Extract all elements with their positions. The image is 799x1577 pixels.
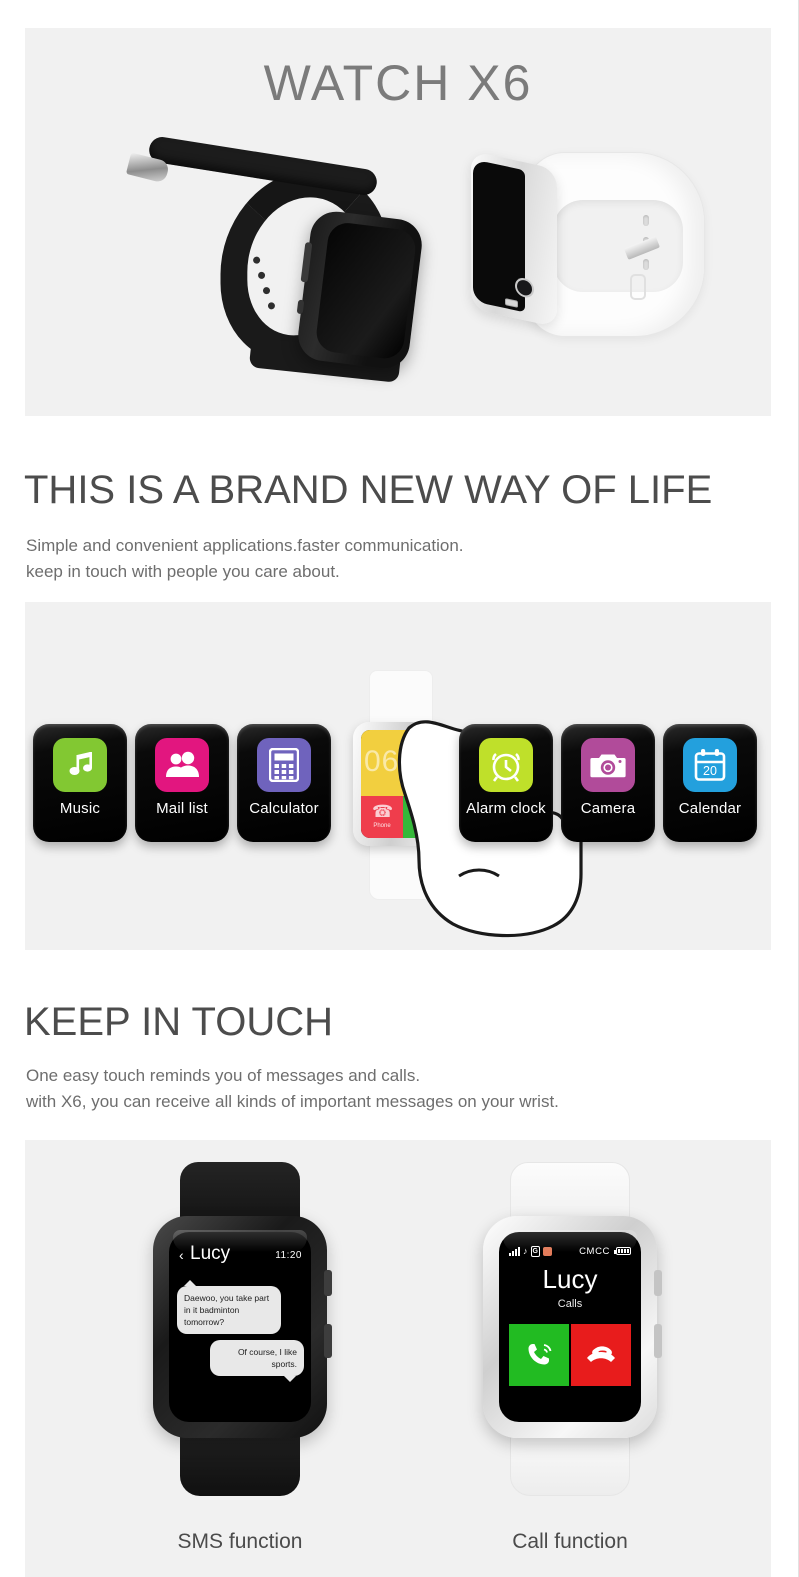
sms-bubble-outgoing: Of course, I like sports.	[210, 1340, 304, 1376]
call-smartwatch: ♪ G CMCC Lucy Calls	[455, 1162, 685, 1492]
call-watch-side-button-1	[654, 1270, 662, 1296]
app-label: Alarm clock	[466, 800, 546, 817]
app-tile-mail-list[interactable]: Mail list	[135, 724, 229, 842]
black-watch-case	[295, 209, 424, 372]
center-watch-strap-top	[369, 670, 433, 730]
app-tile-camera[interactable]: Camera	[561, 724, 655, 842]
messaging-showcase-panel: ‹ Lucy 11:20 Daewoo, you take part in it…	[25, 1140, 771, 1577]
center-smartwatch-photo: 06:00 2015/08/20 ☎ Phone	[353, 670, 449, 900]
black-watch-screen	[314, 221, 417, 361]
watchface-green-tile[interactable]	[403, 796, 441, 838]
call-action-buttons	[509, 1324, 631, 1386]
product-title: WATCH X6	[25, 54, 771, 112]
call-watch-side-button-2	[654, 1324, 662, 1358]
clock-date: 2015/08/20	[412, 746, 437, 752]
call-watch-case: ♪ G CMCC Lucy Calls	[483, 1216, 657, 1438]
call-watch-screen: ♪ G CMCC Lucy Calls	[499, 1232, 641, 1422]
phone-accept-icon	[524, 1340, 554, 1370]
app-tile-row: Music Mail list	[25, 602, 771, 950]
app-label: Music	[60, 800, 100, 817]
white-strap-keeper	[630, 274, 646, 300]
call-caption: Call function	[455, 1530, 685, 1554]
watchface-phone-tile[interactable]: ☎ Phone	[361, 796, 403, 838]
call-contact-name: Lucy	[499, 1264, 641, 1295]
section-subtext-line1: Simple and convenient applications.faste…	[26, 533, 464, 559]
white-watch-case	[471, 151, 557, 327]
app-tile-calculator[interactable]: Calculator	[237, 724, 331, 842]
section-subtext-line2: keep in touch with people you care about…	[26, 559, 464, 585]
section-heading-lifestyle: THIS IS A BRAND NEW WAY OF LIFE	[24, 468, 712, 513]
app-tile-calendar[interactable]: 20 Calendar	[663, 724, 757, 842]
app-tile-music[interactable]: Music	[33, 724, 127, 842]
alarm-clock-icon	[479, 738, 533, 792]
accept-call-button[interactable]	[509, 1324, 569, 1386]
section-subtext-lifestyle: Simple and convenient applications.faste…	[26, 533, 464, 585]
sms-watch-screen: ‹ Lucy 11:20 Daewoo, you take part in it…	[169, 1232, 311, 1422]
white-strap-inner	[553, 200, 683, 292]
phone-decline-icon	[584, 1342, 618, 1368]
section-subtext-line2: with X6, you can receive all kinds of im…	[26, 1089, 559, 1115]
sms-caption: SMS function	[125, 1530, 355, 1554]
sms-bubble-incoming: Daewoo, you take part in it badminton to…	[177, 1286, 281, 1334]
section-subtext-line1: One easy touch reminds you of messages a…	[26, 1063, 559, 1089]
section-heading-keep-in-touch: KEEP IN TOUCH	[24, 1000, 333, 1045]
apps-showcase-panel: Music Mail list	[25, 602, 771, 950]
black-watch-side-button-small	[297, 300, 305, 315]
contacts-icon	[155, 738, 209, 792]
camera-icon	[581, 738, 635, 792]
phone-icon: ☎	[372, 802, 393, 822]
white-smartwatch-photo	[465, 146, 715, 356]
center-watch-case: 06:00 2015/08/20 ☎ Phone	[353, 722, 449, 846]
app-label: Calendar	[679, 800, 741, 817]
center-watch-side-button	[447, 810, 452, 832]
product-detail-page: WATCH X6	[0, 0, 799, 1577]
black-smartwatch-photo	[120, 133, 420, 403]
svg-text:20: 20	[703, 764, 717, 778]
hero-banner-panel: WATCH X6	[25, 28, 771, 416]
app-label: Camera	[581, 800, 636, 817]
app-tile-alarm-clock[interactable]: Alarm clock	[459, 724, 553, 842]
sms-smartwatch: ‹ Lucy 11:20 Daewoo, you take part in it…	[125, 1162, 355, 1492]
calculator-icon	[257, 738, 311, 792]
watchface-clock-tile: 06:00 2015/08/20	[361, 730, 441, 796]
decline-call-button[interactable]	[571, 1324, 631, 1386]
app-label: Calculator	[249, 800, 319, 817]
phone-tile-label: Phone	[361, 823, 403, 829]
sms-screen-glare	[173, 1230, 307, 1252]
calendar-icon: 20	[683, 738, 737, 792]
sms-watch-side-button-2	[324, 1324, 332, 1358]
call-subtitle: Calls	[499, 1298, 641, 1310]
center-watch-strap-bottom	[369, 838, 433, 900]
music-note-icon	[53, 738, 107, 792]
sms-watch-case: ‹ Lucy 11:20 Daewoo, you take part in it…	[153, 1216, 327, 1438]
center-watch-screen: 06:00 2015/08/20 ☎ Phone	[361, 730, 441, 838]
app-label: Mail list	[156, 800, 208, 817]
section-subtext-keep-in-touch: One easy touch reminds you of messages a…	[26, 1063, 559, 1115]
call-screen-glare	[503, 1230, 637, 1252]
sms-watch-side-button-1	[324, 1270, 332, 1296]
